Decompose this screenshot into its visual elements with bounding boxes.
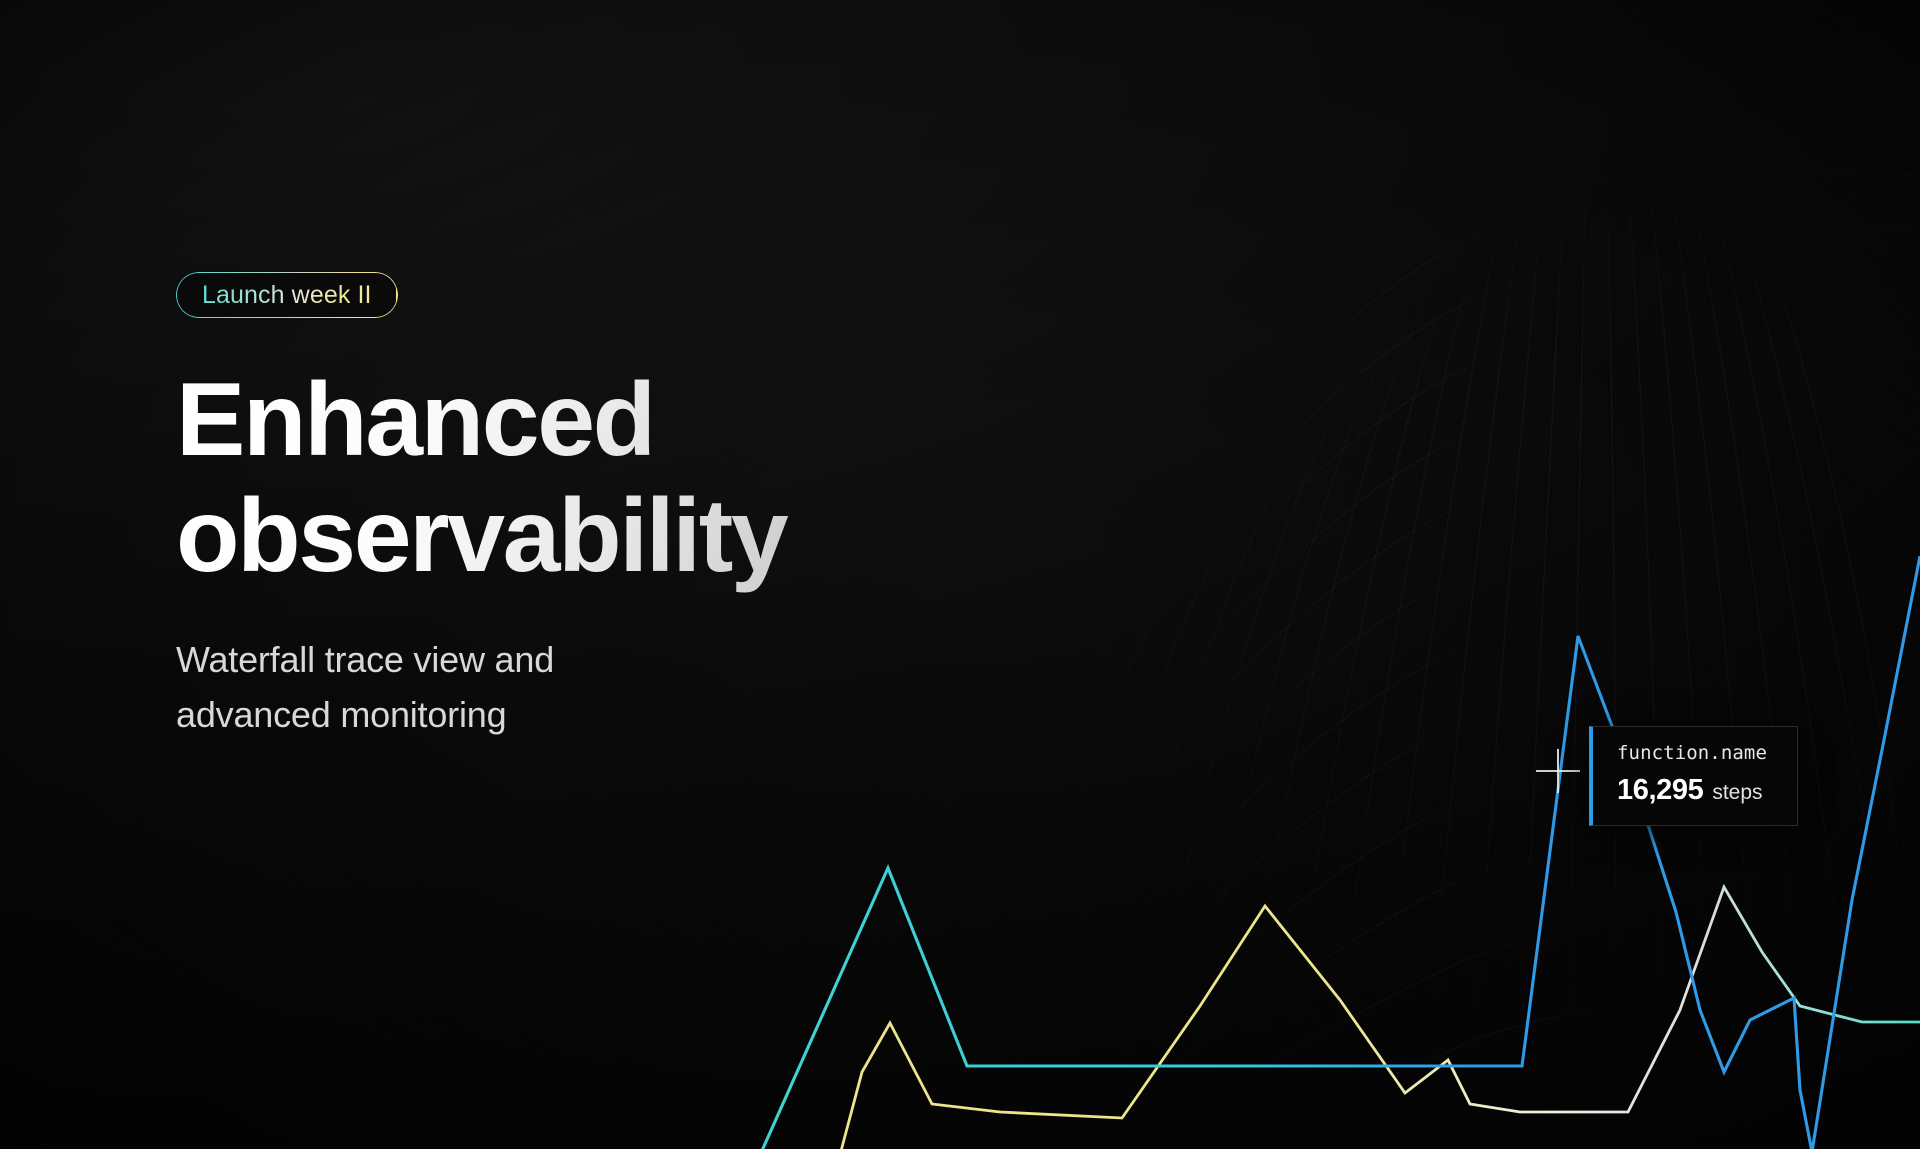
page-subtitle: Waterfall trace view and advanced monito… (176, 633, 736, 742)
hero-copy: Launch week II Enhanced observability Wa… (176, 272, 1036, 742)
tooltip-unit: steps (1712, 782, 1762, 803)
chart-tooltip: function.name 16,295 steps (1589, 726, 1798, 826)
launch-week-badge-label: Launch week II (202, 283, 372, 308)
tooltip-value: 16,295 (1617, 776, 1703, 805)
page-subtitle-line-1: Waterfall trace view and (176, 639, 554, 680)
hero-banner: Launch week II Enhanced observability Wa… (0, 0, 1920, 1149)
page-title-line-2: observability (176, 478, 786, 594)
tooltip-value-row: 16,295 steps (1617, 776, 1767, 805)
page-title-line-1: Enhanced (176, 362, 654, 478)
launch-week-badge[interactable]: Launch week II (176, 272, 398, 318)
tooltip-series-name: function.name (1617, 744, 1767, 763)
page-title: Enhanced observability (176, 362, 936, 595)
page-subtitle-line-2: advanced monitoring (176, 694, 506, 735)
